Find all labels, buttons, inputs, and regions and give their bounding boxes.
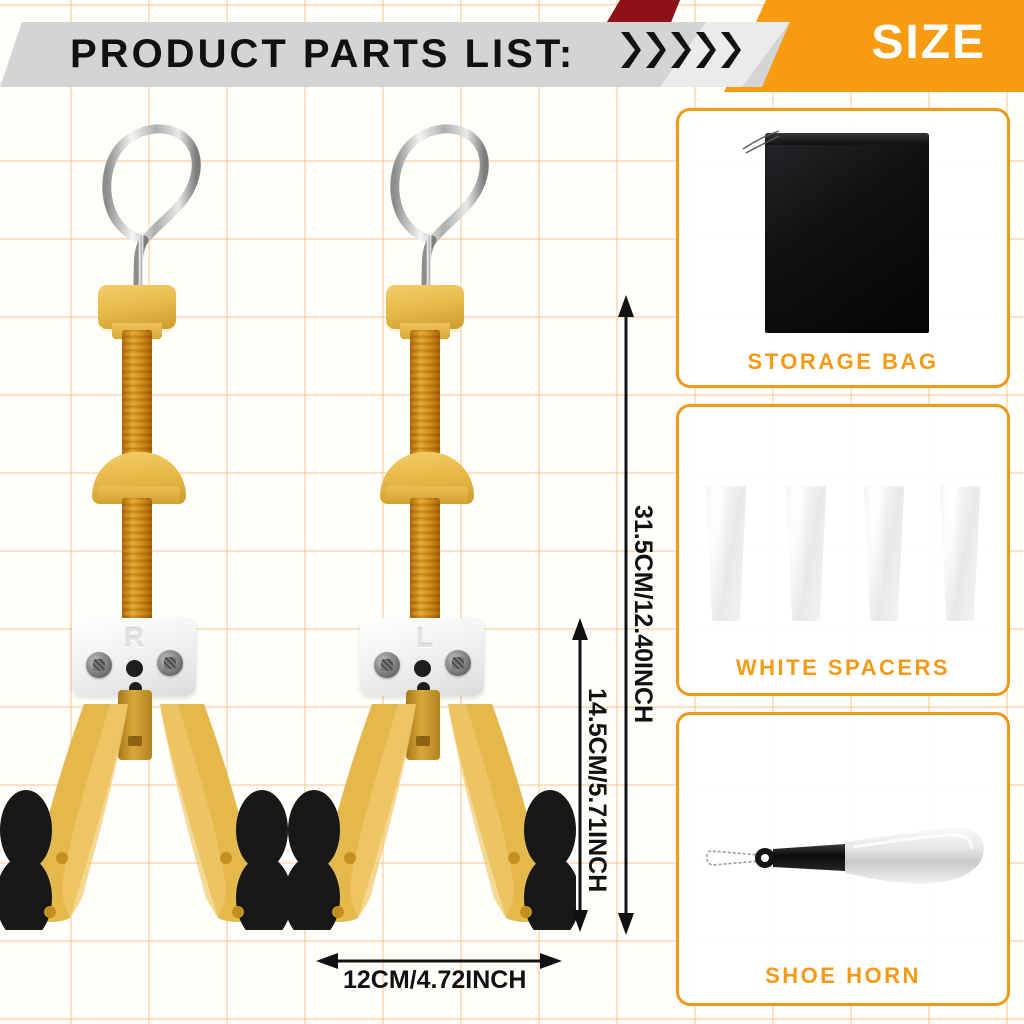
shoe-horn-icon [703, 811, 989, 901]
chevron-right-icon [620, 30, 642, 70]
threaded-shaft-lower [410, 498, 440, 623]
pivot-hole [126, 660, 143, 677]
panel-label-shoe-horn: SHOE HORN [679, 963, 1007, 989]
panel-shoe-horn[interactable]: SHOE HORN [676, 712, 1010, 1006]
top-adjust-nut [98, 285, 176, 329]
threaded-shaft-lower [122, 498, 152, 623]
panel-label-storage-bag: STORAGE BAG [679, 349, 1007, 375]
shoe-stretcher-left: L [288, 0, 588, 960]
pivot-hole [414, 660, 431, 677]
panel-white-spacers[interactable]: WHITE SPACERS [676, 404, 1010, 696]
middle-knob [92, 452, 186, 504]
shoe-spacer-icon [861, 473, 907, 621]
plate-screw [157, 650, 183, 676]
wire-loop-handle-icon [88, 118, 204, 298]
top-adjust-nut [386, 285, 464, 329]
chevron-right-icon [720, 30, 742, 70]
plate-screw [374, 652, 400, 678]
toe-arm-right [128, 700, 288, 930]
chevron-right-icon [645, 30, 667, 70]
drawstring-bag-icon [765, 133, 929, 333]
shoe-spacer-icon [783, 473, 829, 621]
panel-storage-bag[interactable]: STORAGE BAG [676, 108, 1010, 388]
wire-loop-handle-icon [376, 118, 492, 298]
middle-knob [380, 452, 474, 504]
plate-screw [445, 650, 471, 676]
product-infographic: PRODUCT PARTS LIST: SIZE [0, 0, 1024, 1024]
side-marking-L: L [416, 622, 433, 654]
mounting-plate-left: L [360, 618, 484, 696]
dimension-label-body-length: 14.5CM/5.71INCH [582, 688, 611, 892]
chevron-right-icon [695, 30, 717, 70]
chevron-right-icon [670, 30, 692, 70]
shoe-spacer-icon [937, 473, 983, 621]
bag-drawstring-icon [741, 129, 781, 155]
panel-label-white-spacers: WHITE SPACERS [679, 655, 1007, 681]
dimension-label-width: 12CM/4.72INCH [343, 966, 526, 995]
toe-arm-right [416, 700, 576, 930]
size-heading: SIZE [871, 12, 986, 74]
side-marking-R: R [124, 622, 144, 654]
chevron-group [620, 30, 742, 70]
plate-screw [86, 652, 112, 678]
dimension-label-total-length: 31.5CM/12.40INCH [628, 505, 657, 723]
shoe-spacer-icon [703, 473, 749, 621]
mounting-plate-right: R [72, 618, 196, 696]
shoe-stretcher-right: R [0, 0, 300, 960]
